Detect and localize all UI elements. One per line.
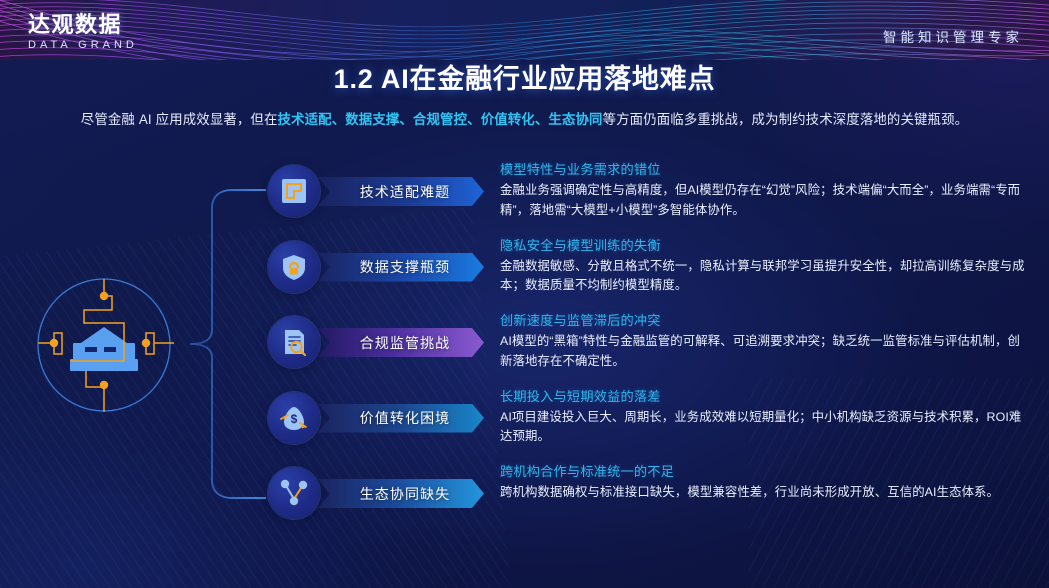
issue-detail: 长期投入与短期效益的落差 AI项目建设投入巨大、周期长，业务成效难以短期量化；中… — [500, 387, 1028, 447]
slide-canvas: 达观数据 DATA GRAND 智能知识管理专家 1.2 AI在金融行业应用落地… — [0, 0, 1049, 588]
subtitle-highlight-5: 生态协同 — [548, 112, 602, 127]
issue-label-bar[interactable]: 价值转化困境 — [318, 404, 484, 433]
issue-label-bar[interactable]: 数据支撑瓶颈 — [318, 253, 484, 282]
subtitle-text-2: 等方面仍面临多重挑战，成为制约技术深度落地的关键瓶颈。 — [603, 112, 969, 127]
subtitle-highlight-4: 价值转化 — [481, 112, 535, 127]
subtitle-text-1: 尽管金融 AI 应用成效显著，但在 — [81, 112, 278, 127]
issue-detail: 模型特性与业务需求的错位 金融业务强调确定性与高精度，但AI模型仍存在“幻觉”风… — [500, 160, 1028, 220]
bank-circuit-icon — [24, 265, 184, 425]
issue-body: AI项目建设投入巨大、周期长，业务成效难以短期量化；中小机构缺乏资源与技术积累，… — [500, 408, 1028, 447]
subtitle-sep-1: 、 — [332, 112, 346, 127]
issue-label: 生态协同缺失 — [352, 484, 451, 504]
issue-heading: 模型特性与业务需求的错位 — [500, 160, 1028, 180]
issues-list: 技术适配难题 模型特性与业务需求的错位 金融业务强调确定性与高精度，但AI模型仍… — [268, 160, 1028, 538]
subtitle-highlight-3: 合规管控 — [413, 112, 467, 127]
list-item[interactable]: 合规监管挑战 创新速度与监管滞后的冲突 AI模型的“黑箱”特性与金融监管的可解释… — [268, 311, 1028, 387]
subtitle-highlight-1: 技术适配 — [278, 112, 332, 127]
issue-label-bar[interactable]: 技术适配难题 — [318, 177, 484, 206]
issue-label: 合规监管挑战 — [352, 333, 451, 353]
money-bag-dollar-icon: $ — [268, 392, 320, 444]
shield-lock-icon — [268, 241, 320, 293]
brand-logo: 达观数据 DATA GRAND — [28, 12, 138, 52]
subtitle-sep-2: 、 — [399, 112, 413, 127]
document-search-icon — [268, 316, 320, 368]
issue-heading: 隐私安全与模型训练的失衡 — [500, 236, 1028, 256]
brand-tagline: 智能知识管理专家 — [883, 26, 1023, 46]
list-item[interactable]: $ 价值转化困境 长期投入与短期效益的落差 AI项目建设投入巨大、周期长，业务成… — [268, 387, 1028, 463]
puzzle-square-icon — [268, 165, 320, 217]
issue-detail: 隐私安全与模型训练的失衡 金融数据敏感、分散且格式不统一，隐私计算与联邦学习虽提… — [500, 236, 1028, 296]
list-item[interactable]: 技术适配难题 模型特性与业务需求的错位 金融业务强调确定性与高精度，但AI模型仍… — [268, 160, 1028, 236]
brand-logo-en: DATA GRAND — [28, 38, 138, 52]
page-subtitle: 尽管金融 AI 应用成效显著，但在技术适配、数据支撑、合规管控、价值转化、生态协… — [0, 109, 1049, 131]
issue-body: AI模型的“黑箱”特性与金融监管的可解释、可追溯要求冲突；缺乏统一监管标准与评估… — [500, 332, 1028, 371]
issue-heading: 创新速度与监管滞后的冲突 — [500, 311, 1028, 331]
issue-label: 数据支撑瓶颈 — [352, 257, 451, 277]
list-item[interactable]: 数据支撑瓶颈 隐私安全与模型训练的失衡 金融数据敏感、分散且格式不统一，隐私计算… — [268, 236, 1028, 312]
issue-detail: 创新速度与监管滞后的冲突 AI模型的“黑箱”特性与金融监管的可解释、可追溯要求冲… — [500, 311, 1028, 371]
page-title: 1.2 AI在金融行业应用落地难点 — [0, 57, 1049, 96]
subtitle-sep-3: 、 — [467, 112, 481, 127]
issue-label-bar[interactable]: 生态协同缺失 — [318, 479, 484, 508]
issue-body: 跨机构数据确权与标准接口缺失，模型兼容性差，行业尚未形成开放、互信的AI生态体系… — [500, 483, 1028, 503]
issue-body: 金融业务强调确定性与高精度，但AI模型仍存在“幻觉”风险；技术端偏“大而全”，业… — [500, 181, 1028, 220]
svg-text:$: $ — [291, 412, 298, 426]
list-item[interactable]: 生态协同缺失 跨机构合作与标准统一的不足 跨机构数据确权与标准接口缺失，模型兼容… — [268, 462, 1028, 538]
issue-label: 价值转化困境 — [352, 408, 451, 428]
subtitle-highlight-2: 数据支撑 — [345, 112, 399, 127]
brace-connector — [190, 160, 280, 528]
issue-heading: 长期投入与短期效益的落差 — [500, 387, 1028, 407]
network-nodes-icon — [268, 467, 320, 519]
issue-body: 金融数据敏感、分散且格式不统一，隐私计算与联邦学习虽提升安全性，却拉高训练复杂度… — [500, 257, 1028, 296]
issue-heading: 跨机构合作与标准统一的不足 — [500, 462, 1028, 482]
issue-label: 技术适配难题 — [352, 182, 451, 202]
issue-detail: 跨机构合作与标准统一的不足 跨机构数据确权与标准接口缺失，模型兼容性差，行业尚未… — [500, 462, 1028, 503]
brand-logo-cn: 达观数据 — [28, 12, 138, 37]
subtitle-sep-4: 、 — [535, 112, 549, 127]
header-band: 达观数据 DATA GRAND 智能知识管理专家 — [0, 0, 1049, 60]
issue-label-bar[interactable]: 合规监管挑战 — [318, 328, 484, 357]
